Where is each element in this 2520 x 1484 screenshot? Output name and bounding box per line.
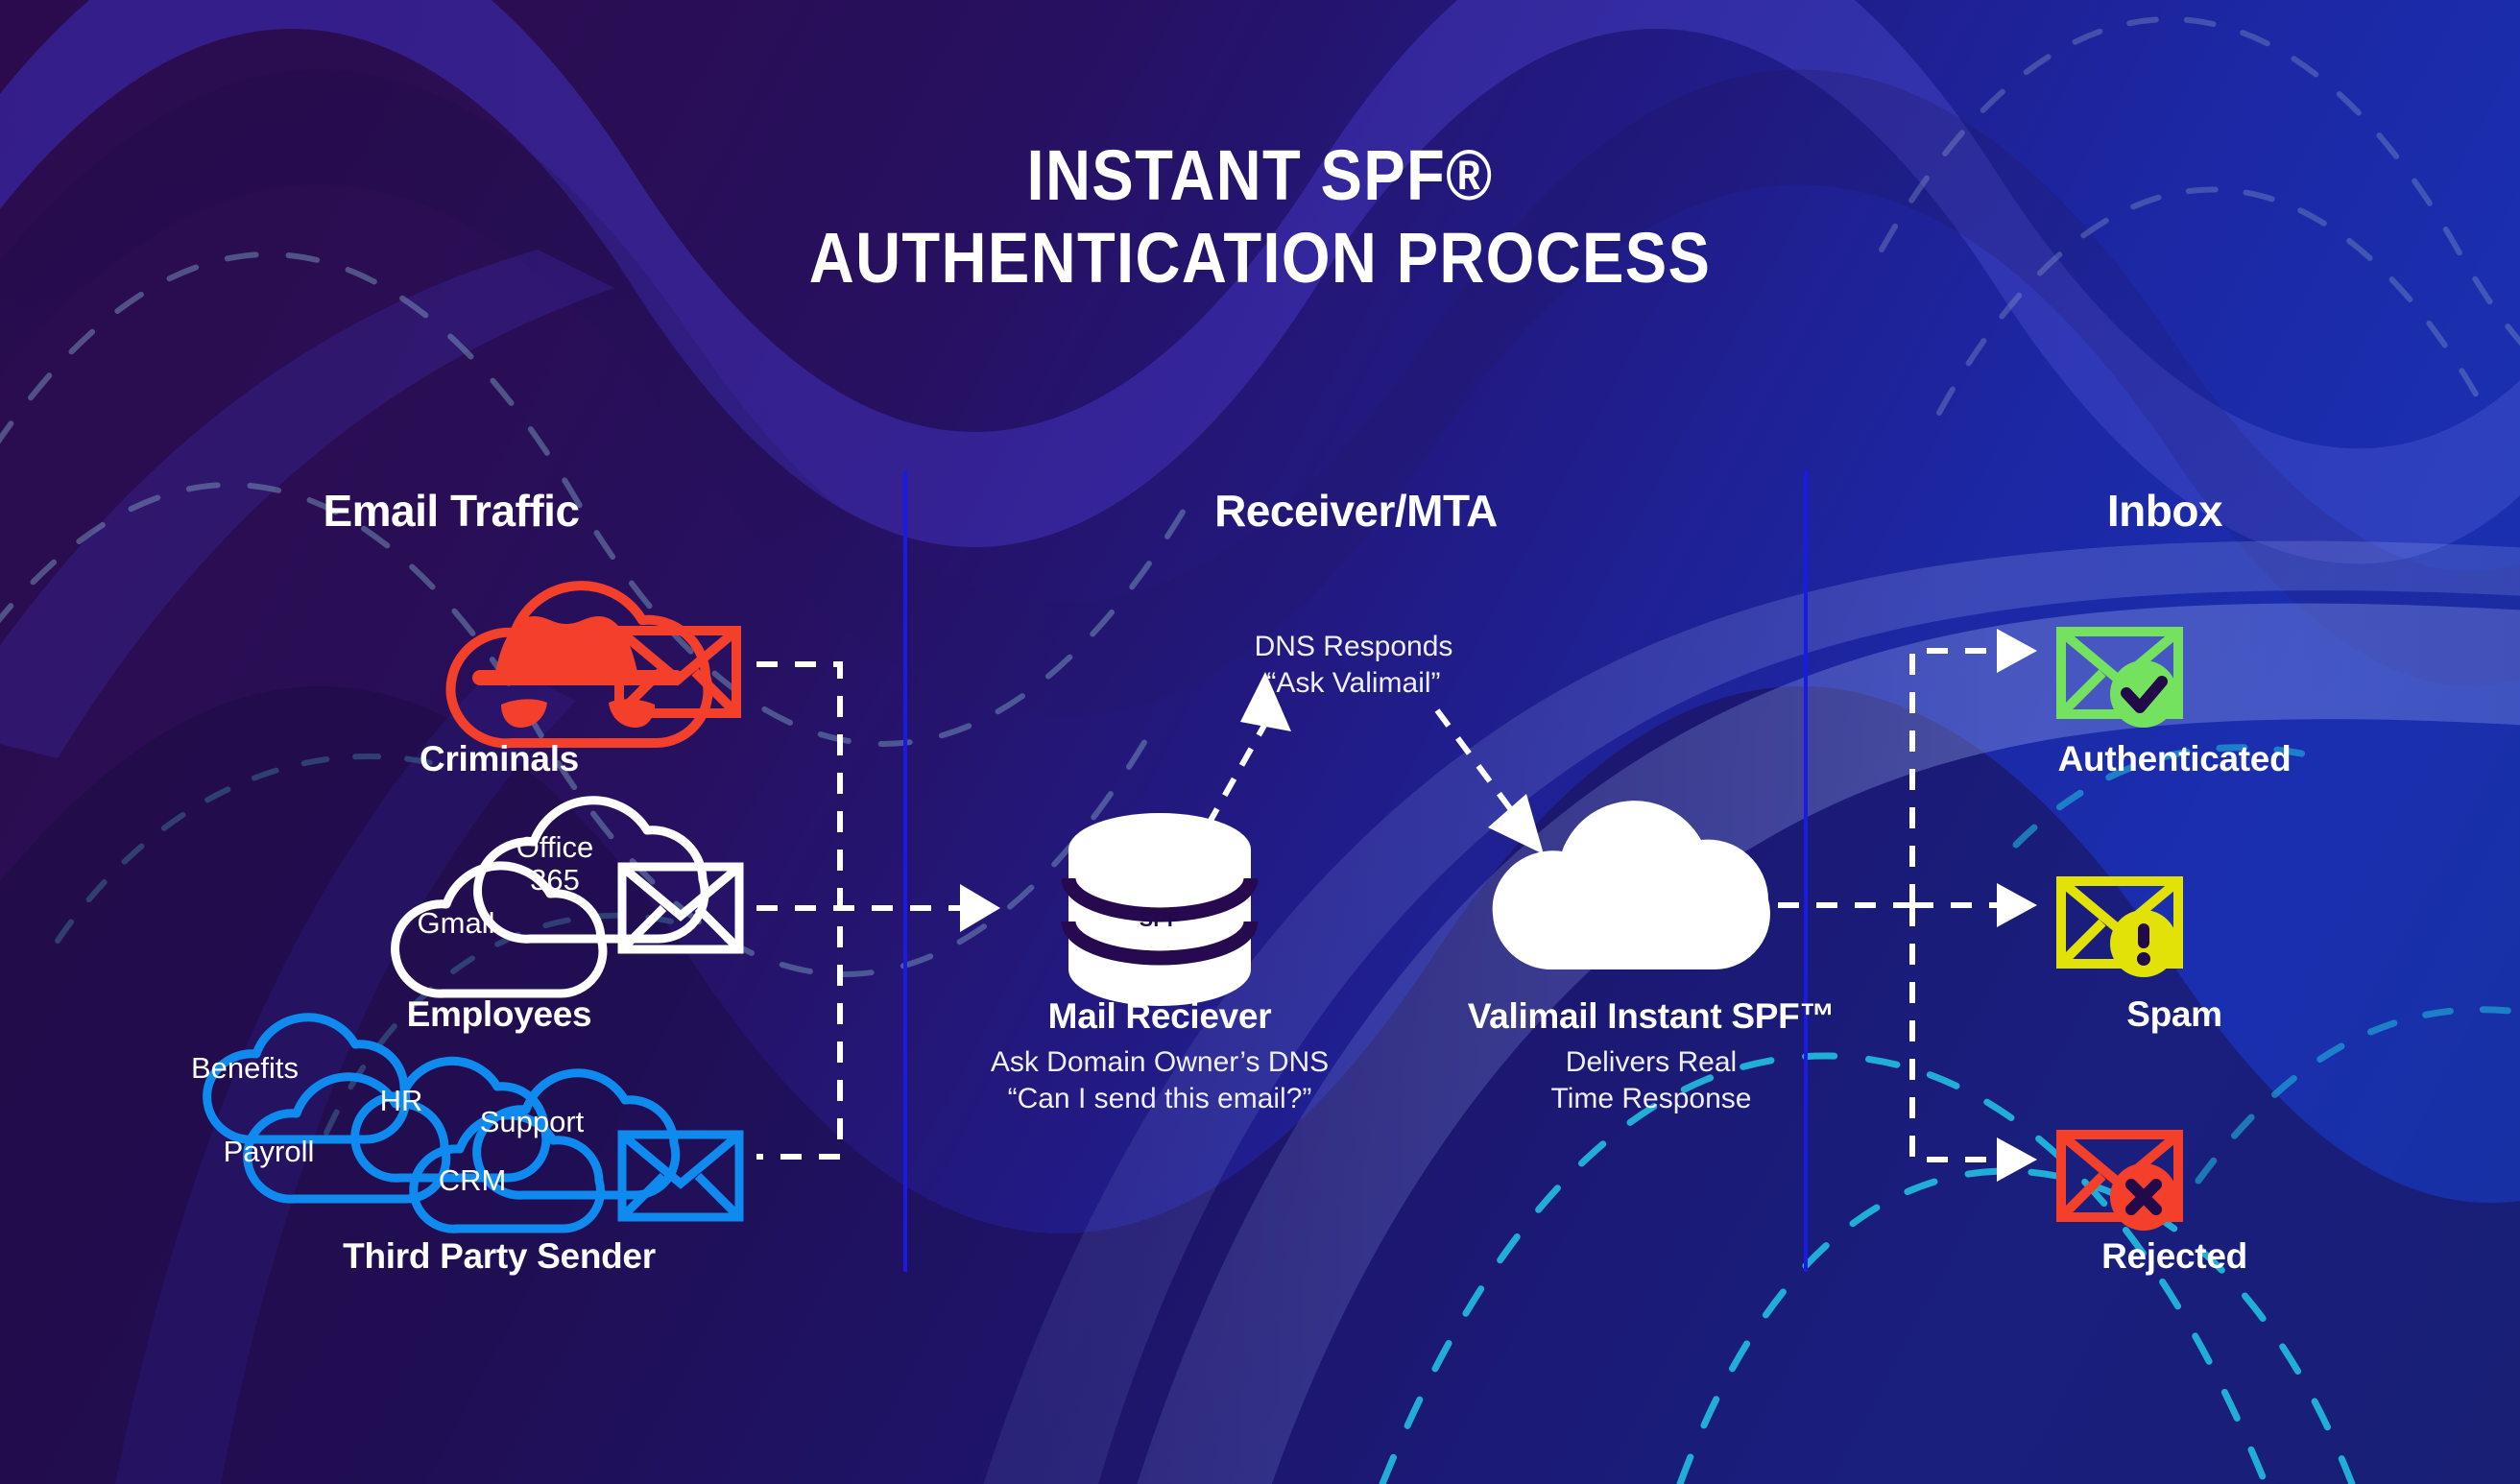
node-label-spam: Spam — [1829, 994, 2520, 1035]
infographic-canvas: INSTANT SPF® AUTHENTICATION PROCESS Emai… — [0, 0, 2520, 1484]
flow-arrow-to-receiver — [960, 884, 1000, 932]
flow-arrow-authenticated — [1997, 629, 2037, 673]
node-label-rejected: Rejected — [1829, 1236, 2520, 1277]
flow-arrow-spam — [1997, 883, 2037, 927]
node-label-mail-receiver: Mail Reciever — [968, 996, 1352, 1037]
node-sub-valimail: Delivers Real Time Response — [1411, 1044, 1891, 1118]
envelope-reject-icon — [2061, 1135, 2178, 1231]
incognito-cloud-icon — [450, 586, 708, 743]
node-label-criminals: Criminals — [365, 739, 634, 779]
flow-connector-dns-response — [1437, 710, 1512, 811]
node-label-employees: Employees — [365, 994, 634, 1035]
node-label-third-party-sender: Third Party Sender — [221, 1236, 778, 1277]
envelope-check-icon — [2061, 632, 2178, 728]
flow-arrow-rejected — [1997, 1137, 2037, 1182]
node-label-authenticated: Authenticated — [1829, 739, 2520, 779]
flow-arrow-dns-response — [1488, 794, 1544, 854]
envelope-icon-third-party — [622, 1135, 739, 1217]
flow-connector-dns-query — [1208, 715, 1270, 826]
cloud-benefits-icon — [207, 1017, 406, 1139]
node-sub-mail-receiver: Ask Domain Owner’s DNS “Can I send this … — [920, 1044, 1400, 1118]
database-label-spf: SPF — [1102, 909, 1217, 932]
envelope-warn-icon — [2061, 881, 2178, 977]
dns-response-annotation: DNS Responds “Ask Valimail” — [1162, 629, 1546, 703]
